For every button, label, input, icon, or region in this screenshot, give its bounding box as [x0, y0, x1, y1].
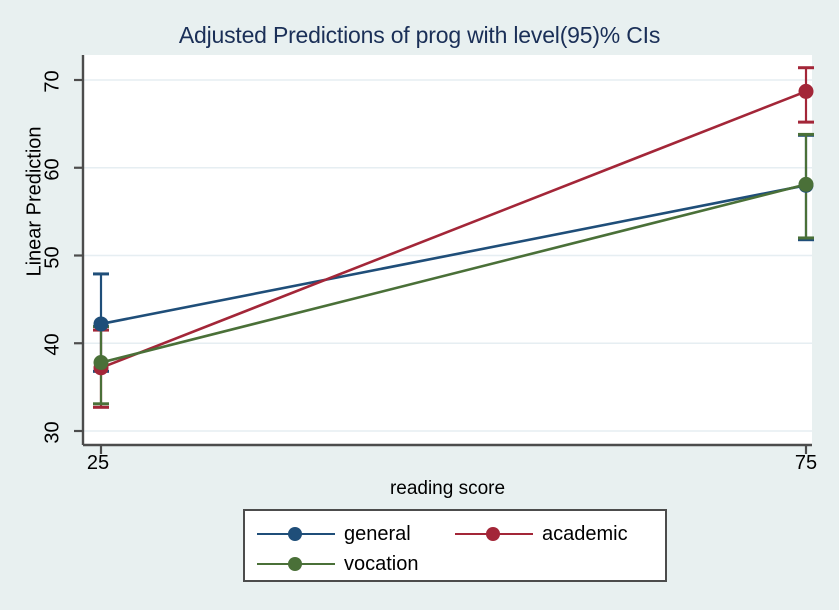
data-point-vocation	[94, 355, 109, 370]
legend-entry-general[interactable]: general	[257, 519, 411, 549]
legend-marker-general	[288, 527, 302, 541]
legend-key-academic	[455, 524, 533, 544]
legend: general academic vocation	[243, 509, 667, 582]
legend-marker-academic	[486, 527, 500, 541]
legend-label-vocation: vocation	[344, 553, 419, 576]
legend-entry-vocation[interactable]: vocation	[257, 549, 419, 579]
legend-entry-academic[interactable]: academic	[455, 519, 628, 549]
data-point-vocation	[799, 177, 814, 192]
plot-background	[83, 55, 812, 445]
chart-figure: Adjusted Predictions of prog with level(…	[0, 0, 839, 610]
legend-label-academic: academic	[542, 523, 628, 546]
legend-marker-vocation	[288, 557, 302, 571]
data-point-academic	[799, 84, 814, 99]
legend-key-vocation	[257, 554, 335, 574]
legend-key-general	[257, 524, 335, 544]
data-point-general	[94, 316, 109, 331]
legend-label-general: general	[344, 523, 411, 546]
